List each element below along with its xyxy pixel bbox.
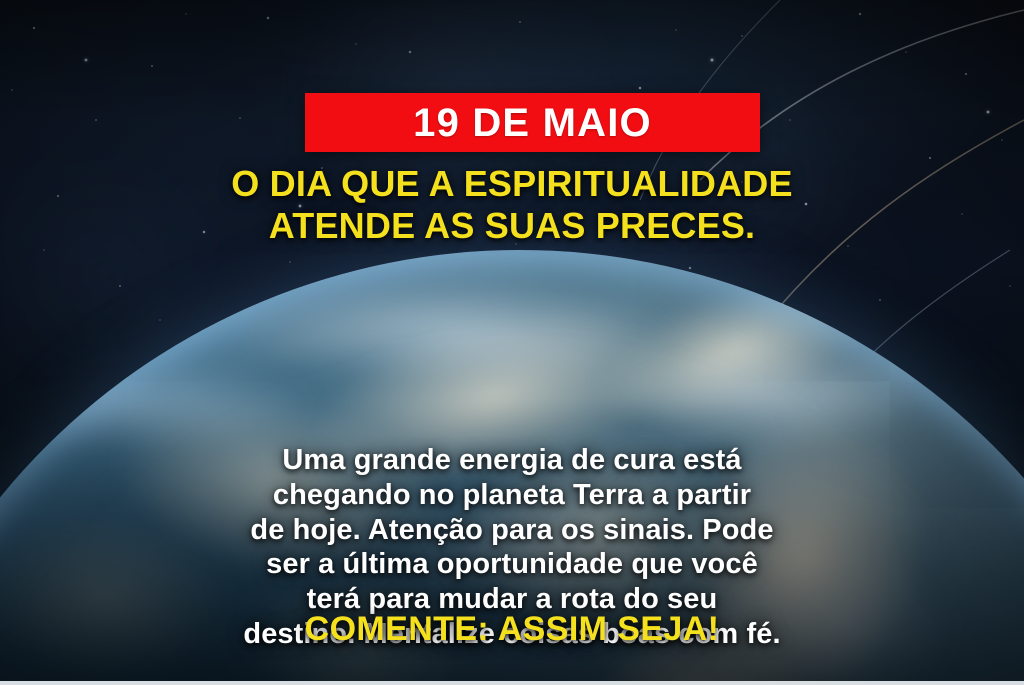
bottom-strip — [0, 681, 1024, 685]
call-to-action-text: COMENTE: ASSIM SEJA! — [0, 612, 1024, 646]
body-line-4: ser a última oportunidade que você — [52, 547, 972, 582]
body-line-3: de hoje. Atenção para os sinais. Pode — [52, 513, 972, 548]
body-line-1: Uma grande energia de cura está — [52, 443, 972, 478]
poster-content: 19 DE MAIO O DIA QUE A ESPIRITUALIDADE A… — [0, 0, 1024, 685]
headline-line-2: ATENDE AS SUAS PRECES. — [30, 205, 994, 247]
headline: O DIA QUE A ESPIRITUALIDADE ATENDE AS SU… — [0, 163, 1024, 247]
date-banner-label: 19 DE MAIO — [413, 103, 652, 143]
date-banner: 19 DE MAIO — [305, 93, 760, 152]
poster-canvas: 19 DE MAIO O DIA QUE A ESPIRITUALIDADE A… — [0, 0, 1024, 685]
headline-line-1: O DIA QUE A ESPIRITUALIDADE — [30, 163, 994, 205]
body-line-2: chegando no planeta Terra a partir — [52, 478, 972, 513]
